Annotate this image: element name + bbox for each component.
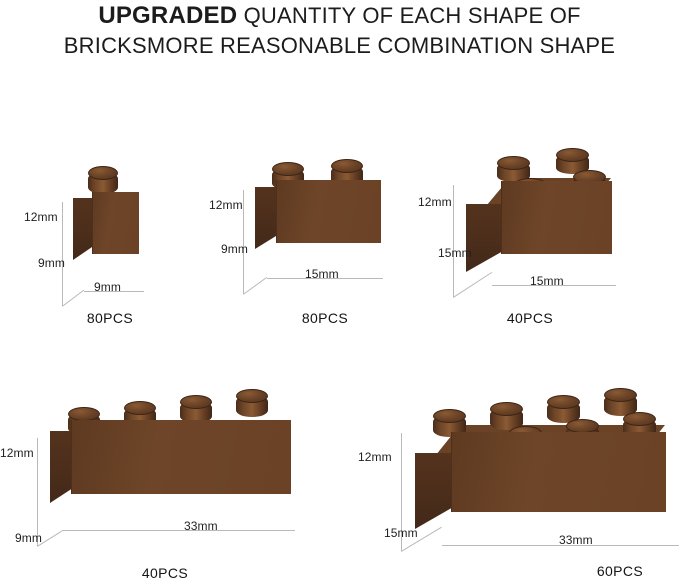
brick-side-face xyxy=(50,431,72,503)
height-label: 12mm xyxy=(0,446,34,460)
stud-cap xyxy=(124,401,156,415)
stud-cap xyxy=(236,389,268,403)
brick-figure-1x1: 12mm 9mm 9mm 80PCS xyxy=(20,150,200,340)
stud-cap xyxy=(556,148,589,162)
brick-figure-2x2: 12mm 15mm 15mm 40PCS xyxy=(430,140,650,340)
quantity-label: 40PCS xyxy=(0,565,330,581)
depth-label: 9mm xyxy=(221,242,248,256)
height-label: 12mm xyxy=(358,450,392,464)
depth-label: 15mm xyxy=(438,246,472,260)
depth-label: 9mm xyxy=(15,531,42,545)
brick-side-face xyxy=(255,187,277,249)
brick-figure-2x4: 12mm 15mm 33mm 60PCS xyxy=(340,385,679,584)
height-label: 12mm xyxy=(24,210,58,224)
brick-front-face xyxy=(71,420,291,494)
width-label: 9mm xyxy=(94,280,121,294)
stud-cap xyxy=(88,166,118,180)
width-label: 15mm xyxy=(530,274,564,288)
title-line-1: UPGRADED QUANTITY OF EACH SHAPE OF xyxy=(0,2,679,32)
height-dimension-line xyxy=(62,202,63,306)
title-emphasis: UPGRADED xyxy=(98,2,237,29)
stud-cap xyxy=(433,409,466,423)
brick-side-face xyxy=(415,453,452,529)
width-label: 33mm xyxy=(184,519,218,533)
brick-front-face xyxy=(501,181,612,254)
brick-front-face xyxy=(92,192,139,254)
page-title: UPGRADED QUANTITY OF EACH SHAPE OF BRICK… xyxy=(0,2,679,59)
brick-side-face xyxy=(466,204,502,272)
depth-label: 15mm xyxy=(384,526,418,540)
brick-side-face xyxy=(73,198,93,260)
brick-front-face xyxy=(276,180,381,243)
stud-cap xyxy=(623,412,656,426)
stud-cap xyxy=(547,395,580,409)
quantity-label: 80PCS xyxy=(225,310,425,326)
quantity-label: 80PCS xyxy=(20,310,200,326)
height-label: 12mm xyxy=(209,198,243,212)
brick-figure-1x4: 12mm 9mm 33mm 40PCS xyxy=(0,385,330,584)
title-line-1-rest: QUANTITY OF EACH SHAPE OF xyxy=(244,3,581,28)
stud-cap xyxy=(490,402,523,416)
width-label: 15mm xyxy=(305,267,339,281)
depth-dimension-line xyxy=(453,272,492,298)
title-line-2: BRICKSMORE REASONABLE COMBINATION SHAPE xyxy=(0,32,679,59)
brick-figure-1x2: 12mm 9mm 15mm 80PCS xyxy=(225,150,425,340)
stud-cap xyxy=(604,388,637,402)
depth-dimension-line xyxy=(243,277,267,295)
height-dimension-line xyxy=(37,438,38,546)
depth-label: 9mm xyxy=(38,256,65,270)
stud-cap xyxy=(566,419,599,433)
height-label: 12mm xyxy=(418,195,452,209)
quantity-label: 40PCS xyxy=(430,310,630,326)
brick-front-face xyxy=(451,432,666,512)
height-dimension-line xyxy=(453,185,454,297)
depth-dimension-line xyxy=(62,290,84,307)
stud-cap xyxy=(180,395,212,409)
width-label: 33mm xyxy=(559,533,593,547)
stud-cap xyxy=(272,162,304,176)
width-dimension-line xyxy=(62,530,295,531)
stud-cap xyxy=(68,407,100,421)
stud-cap xyxy=(497,156,530,170)
stud-cap xyxy=(331,159,363,173)
quantity-label: 60PCS xyxy=(560,563,679,579)
